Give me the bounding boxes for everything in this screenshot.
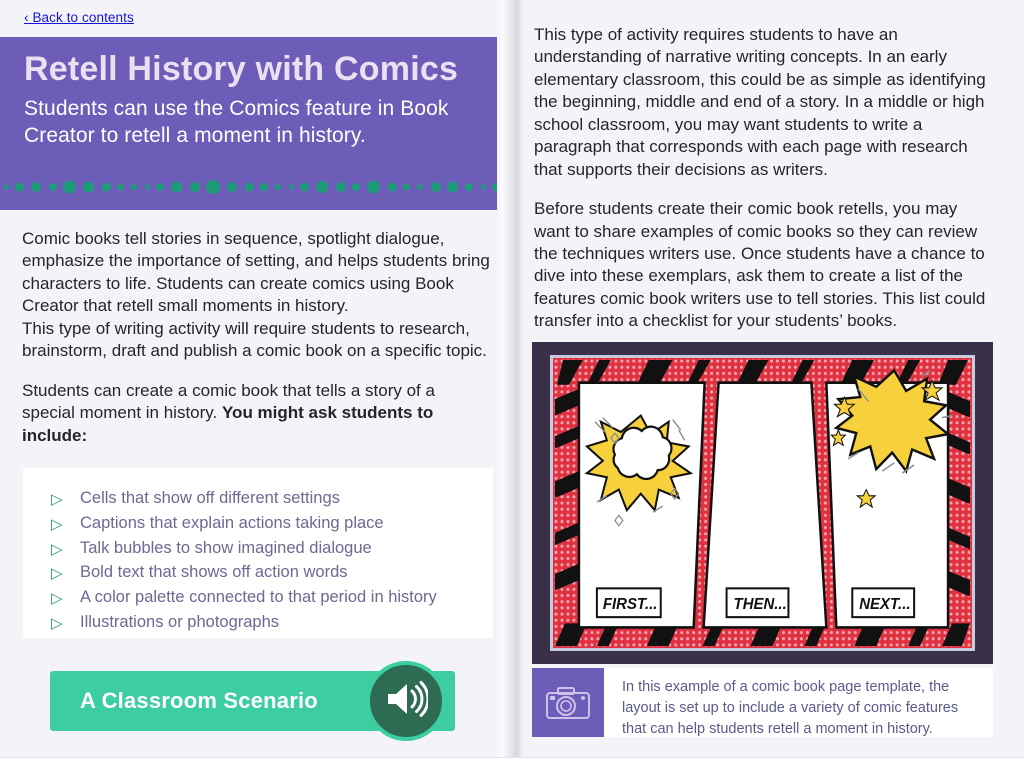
comic-panel-label: NEXT... (859, 596, 910, 613)
divider-dot (403, 184, 410, 191)
right-column-text: This type of activity requires students … (534, 24, 996, 333)
divider-dot (156, 183, 164, 191)
divider-dot (4, 185, 9, 190)
page-title: Retell History with Comics (24, 51, 489, 88)
divider-dot (49, 183, 57, 191)
divider-dot (260, 183, 268, 191)
list-item-label: Cells that show off different settings (71, 487, 340, 509)
left-paragraph-2: Students can create a comic book that te… (22, 380, 490, 447)
list-item: ▷A color palette connected to that perio… (51, 586, 493, 608)
list-item-label: Illustrations or photographs (71, 611, 279, 633)
classroom-scenario-label: A Classroom Scenario (50, 688, 318, 714)
comic-image-frame: FIRST... THEN... NEXT... (532, 342, 993, 664)
divider-dot (83, 182, 94, 193)
triangle-bullet-icon: ▷ (51, 566, 71, 581)
divider-dot (15, 183, 24, 192)
divider-dot (388, 183, 397, 192)
divider-dot (31, 182, 41, 192)
list-item-label: Captions that explain actions taking pla… (71, 512, 384, 534)
triangle-bullet-icon: ▷ (51, 492, 71, 507)
play-audio-button[interactable] (366, 661, 446, 741)
list-item: ▷Cells that show off different settings (51, 487, 493, 509)
features-list-card: ▷Cells that show off different settings▷… (23, 468, 493, 638)
divider-dot (481, 185, 486, 190)
right-paragraph-2: Before students create their comic book … (534, 198, 996, 333)
dotted-divider (0, 178, 513, 196)
camera-icon (532, 668, 604, 737)
divider-dot (145, 185, 150, 190)
divider-dot (245, 183, 254, 192)
divider-dot (465, 183, 473, 191)
triangle-bullet-icon: ▷ (51, 542, 71, 557)
divider-dot (300, 183, 309, 192)
divider-dot (131, 184, 137, 190)
divider-dot (102, 183, 111, 192)
triangle-bullet-icon: ▷ (51, 616, 71, 631)
right-paragraph-1: This type of activity requires students … (534, 24, 996, 181)
figure-caption-bar: In this example of a comic book page tem… (532, 668, 993, 737)
divider-dot (352, 183, 360, 191)
page-subtitle: Students can use the Comics feature in B… (24, 96, 484, 150)
speaker-icon (384, 680, 428, 723)
divider-dot (316, 181, 328, 193)
divider-dot (206, 180, 220, 194)
triangle-bullet-icon: ▷ (51, 591, 71, 606)
divider-dot (431, 182, 441, 192)
divider-dot (289, 185, 294, 190)
left-column-text: Comic books tell stories in sequence, sp… (22, 228, 490, 447)
divider-dot (417, 184, 423, 190)
left-paragraph-1: Comic books tell stories in sequence, sp… (22, 228, 490, 363)
divider-dot (117, 184, 124, 191)
divider-dot (336, 182, 346, 192)
list-item-label: Bold text that shows off action words (71, 561, 348, 583)
comic-panel-label: FIRST... (603, 596, 658, 613)
divider-dot (275, 184, 281, 190)
comic-image: FIRST... THEN... NEXT... (550, 355, 975, 651)
list-item: ▷Captions that explain actions taking pl… (51, 512, 493, 534)
list-item: ▷Talk bubbles to show imagined dialogue (51, 537, 493, 559)
divider-dot (227, 182, 237, 192)
title-banner: Retell History with Comics Students can … (0, 37, 513, 210)
list-item-label: Talk bubbles to show imagined dialogue (71, 537, 372, 559)
divider-dot (492, 183, 501, 192)
divider-dot (190, 182, 200, 192)
divider-dot (447, 182, 458, 193)
comic-template-figure: FIRST... THEN... NEXT... In this example… (532, 342, 993, 737)
page-bottom-edge (0, 757, 1024, 768)
list-item: ▷Bold text that shows off action words (51, 561, 493, 583)
divider-dot (171, 182, 182, 193)
back-to-contents-link[interactable]: ‹ Back to contents (24, 10, 134, 25)
divider-dot (63, 181, 76, 194)
ebook-page: ‹ Back to contents Retell History with C… (0, 0, 1024, 768)
divider-dot (367, 181, 380, 194)
comic-panel-label: THEN... (734, 596, 787, 613)
triangle-bullet-icon: ▷ (51, 517, 71, 532)
list-item: ▷Illustrations or photographs (51, 611, 493, 633)
figure-caption-text: In this example of a comic book page tem… (604, 668, 993, 737)
list-item-label: A color palette connected to that period… (71, 586, 437, 608)
